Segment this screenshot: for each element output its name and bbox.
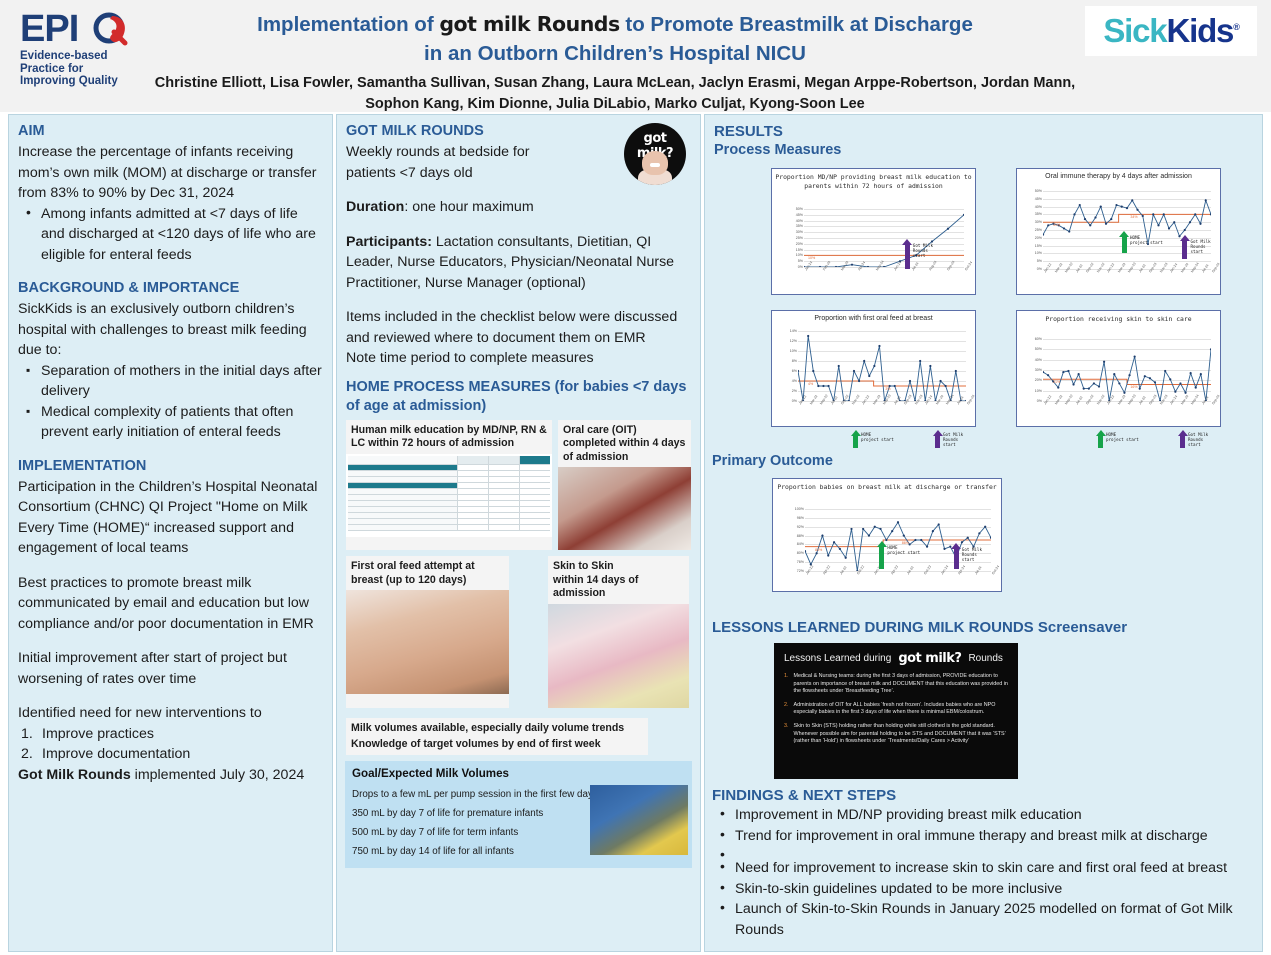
- y-axis-tick-label: 60%: [1035, 337, 1042, 341]
- got-milk-rounds-start-label: Got Milk Rounds start: [962, 547, 982, 563]
- epiq-tagline-2: Practice for: [20, 63, 118, 76]
- poster-title-block: Implementation of got milk Rounds to Pro…: [150, 10, 1080, 115]
- implementation-numbered-list: 1.Improve practices 2.Improve documentat…: [20, 724, 323, 765]
- y-axis-tick-label: 50%: [796, 207, 803, 211]
- list-item: 1.Medical & Nursing teams: during the fi…: [784, 673, 1008, 696]
- duration-label: Duration: [346, 199, 404, 215]
- results-heading: RESULTS: [714, 122, 1253, 141]
- epiq-tagline-3: Improving Quality: [20, 75, 118, 88]
- y-axis-tick-label: 15%: [796, 248, 803, 252]
- y-axis-tick-label: 92%: [797, 525, 804, 529]
- aim-bullets: Among infants admitted at <7 days of lif…: [24, 204, 323, 266]
- y-axis-tick-label: 35%: [796, 224, 803, 228]
- process-measure-row-2: First oral feed attempt at breast (up to…: [346, 556, 691, 714]
- list-number: 3.: [784, 723, 789, 746]
- registered-mark: ®: [1233, 22, 1238, 32]
- y-axis-tick-label: 40%: [1035, 205, 1042, 209]
- centerline-label: 86%: [902, 541, 909, 545]
- implementation-final-line: Got Milk Rounds implemented July 30, 202…: [18, 765, 323, 786]
- list-item-label: Skin to Skin (STS) holding rather than h…: [794, 723, 1009, 746]
- y-axis-tick-label: 40%: [796, 219, 803, 223]
- implementation-paragraph-4: Identified need for new interventions to: [18, 703, 323, 724]
- chart-first-oral-feed: Proportion with first oral feed at breas…: [771, 310, 976, 427]
- title-part-b: to Promote Breastmilk at Discharge: [620, 13, 973, 36]
- x-axis-tick-label: Sep-24: [966, 394, 976, 405]
- middle-column: got milk? GOT MILK ROUNDS Weekly rounds …: [336, 114, 701, 952]
- y-axis-tick-label: 45%: [1035, 197, 1042, 201]
- list-item: Separation of mothers in the initial day…: [24, 361, 323, 402]
- chart-series: [1043, 339, 1211, 401]
- screensaver-title-post: Rounds: [968, 653, 1002, 664]
- background-bullets: Separation of mothers in the initial day…: [24, 361, 323, 443]
- list-item: Medical complexity of patients that ofte…: [24, 402, 323, 443]
- y-axis-tick-label: 0%: [1037, 399, 1042, 403]
- implementation-final-rest: implemented July 30, 2024: [131, 767, 305, 783]
- y-axis-tick-label: 4%: [792, 379, 797, 383]
- y-axis-tick-label: 25%: [796, 236, 803, 240]
- screensaver-title-pre: Lessons Learned during: [784, 653, 891, 664]
- y-axis-tick-label: 96%: [797, 516, 804, 520]
- participants-line: Participants: Lactation consultants, Die…: [346, 232, 691, 294]
- y-axis-tick-label: 0%: [798, 265, 803, 269]
- background-text: SickKids is an exclusively outborn child…: [18, 299, 323, 361]
- got-milk-rounds-bold: Got Milk Rounds: [18, 767, 131, 783]
- chart-plot-area: 0%2%4%6%8%10%12%14%Jan-22Mar-22May-22Jul…: [798, 331, 966, 401]
- list-spacer: [718, 846, 1257, 858]
- author-list-line-1: Christine Elliott, Lisa Fowler, Samantha…: [150, 73, 1080, 94]
- skin-to-skin-photo: [548, 604, 689, 708]
- y-axis-tick-label: 14%: [790, 329, 797, 333]
- card-caption: Skin to Skin within 14 days of admission: [548, 556, 689, 604]
- findings-section: FINDINGS & NEXT STEPS Improvement in MD/…: [712, 786, 1257, 940]
- list-item-label: Administration of OIT for ALL babies ‘fr…: [794, 702, 1009, 717]
- y-axis-tick-label: 50%: [1035, 189, 1042, 193]
- y-axis-tick-label: 72%: [797, 569, 804, 573]
- chart-series: [798, 331, 966, 401]
- y-axis-tick-label: 10%: [1035, 251, 1042, 255]
- y-axis-tick-label: 10%: [790, 349, 797, 353]
- sickkids-wordmark: SickKids®: [1103, 12, 1238, 50]
- y-axis-tick-label: 100%: [795, 507, 804, 511]
- findings-heading: FINDINGS & NEXT STEPS: [712, 786, 1257, 805]
- list-item: Trend for improvement in oral immune the…: [718, 826, 1257, 847]
- duration-line: Duration: one hour maximum: [346, 197, 691, 218]
- centerline-label: 83%: [815, 548, 822, 552]
- y-axis-tick-label: 45%: [796, 213, 803, 217]
- milk-volumes-title: Goal/Expected Milk Volumes: [352, 767, 685, 780]
- y-axis-tick-label: 5%: [1037, 259, 1042, 263]
- got-milk-rounds-start-label: Got Milk Rounds start: [913, 243, 933, 259]
- process-measures-heading: Process Measures: [714, 141, 1253, 160]
- centerline-label: 34%: [1130, 215, 1137, 219]
- x-axis-tick-label: Oct-24: [991, 565, 1000, 576]
- x-axis-tick-label: Sep-24: [1211, 262, 1221, 273]
- chart-title: Proportion babies on breast milk at disc…: [773, 479, 1001, 492]
- card-caption: Oral care (OIT) completed within 4 days …: [558, 420, 691, 468]
- findings-list: Improvement in MD/NP providing breast mi…: [718, 805, 1257, 940]
- y-axis-tick-label: 0%: [792, 399, 797, 403]
- list-item: 3.Skin to Skin (STS) holding rather than…: [784, 723, 1008, 746]
- got-milk-rounds-start-label: Got Milk Rounds start: [943, 432, 963, 448]
- got-milk-rounds-text: Weekly rounds at bedside for patients <7…: [346, 142, 561, 183]
- screensaver-got-milk-logo: got milk?: [898, 651, 961, 666]
- y-axis-tick-label: 88%: [797, 534, 804, 538]
- chart-plot-area: 0%5%10%15%20%25%30%35%40%45%50%Jan-22Mar…: [1043, 191, 1211, 269]
- sickkids-logo: SickKids®: [1085, 6, 1257, 56]
- y-axis-tick-label: 12%: [790, 339, 797, 343]
- list-item-label: Improve documentation: [42, 746, 190, 762]
- chart-skin-to-skin: Proportion receiving skin to skin care 0…: [1016, 310, 1221, 427]
- title-got-milk-rounds: got milk Rounds: [439, 12, 619, 36]
- badge-baby-milk-lip: [650, 163, 660, 167]
- epiq-tagline: Evidence-based Practice for Improving Qu…: [20, 50, 118, 88]
- got-milk-badge-icon: got milk?: [624, 123, 686, 185]
- epiq-logo: EPI Evidence-based Practice for Improvin…: [14, 8, 144, 86]
- sickkids-part-sick: Sick: [1103, 12, 1166, 49]
- page-subtitle: in an Outborn Children’s Hospital NICU: [150, 39, 1080, 68]
- home-start-label: HOME project start: [1106, 432, 1139, 442]
- chart-title: Proportion with first oral feed at breas…: [772, 311, 975, 324]
- centerline-label: 31%: [1053, 223, 1060, 227]
- background-heading: BACKGROUND & IMPORTANCE: [18, 279, 323, 298]
- list-item: 2.Improve documentation: [20, 744, 323, 765]
- chart-series: [804, 209, 964, 267]
- list-item-label: Medical & Nursing teams: during the firs…: [794, 673, 1009, 696]
- y-axis-tick-label: 76%: [797, 560, 804, 564]
- card-skin-to-skin: Skin to Skin within 14 days of admission: [548, 556, 689, 708]
- chart-oral-immune-therapy: Oral immune therapy by 4 days after admi…: [1016, 168, 1221, 295]
- y-axis-tick-label: 10%: [796, 253, 803, 257]
- aim-text: Increase the percentage of infants recei…: [18, 142, 323, 204]
- list-item: Skin-to-skin guidelines updated to be mo…: [718, 879, 1257, 900]
- chart-breast-milk-at-discharge: Proportion babies on breast milk at disc…: [772, 478, 1002, 592]
- y-axis-tick-label: 50%: [1035, 347, 1042, 351]
- goal-expected-milk-volumes: Goal/Expected Milk Volumes Drops to a fe…: [345, 761, 692, 868]
- chart-plot-area: 0%10%20%30%40%50%60%Jan-22Mar-22May-22Ju…: [1043, 339, 1211, 401]
- y-axis-tick-label: 2%: [792, 389, 797, 393]
- breastfeeding-photo: [346, 590, 509, 694]
- card-caption: Human milk education by MD/NP, RN & LC w…: [346, 420, 552, 454]
- lessons-heading-wrap: LESSONS LEARNED DURING MILK ROUNDS Scree…: [712, 618, 1127, 637]
- title-part-a: Implementation of: [257, 13, 439, 36]
- y-axis-tick-label: 20%: [1035, 236, 1042, 240]
- chart-title: Oral immune therapy by 4 days after admi…: [1017, 169, 1220, 182]
- list-number: 2.: [784, 702, 789, 717]
- y-axis-tick-label: 8%: [792, 359, 797, 363]
- table-row: [348, 525, 550, 531]
- epiq-tagline-1: Evidence-based: [20, 50, 118, 63]
- aim-heading: AIM: [18, 122, 323, 141]
- y-axis-tick-label: 30%: [796, 230, 803, 234]
- checklist-note-2: Note time period to complete measures: [346, 348, 691, 369]
- list-item: 1.Improve practices: [20, 724, 323, 745]
- lessons-learned-heading: LESSONS LEARNED DURING MILK ROUNDS Scree…: [712, 618, 1127, 637]
- y-axis-tick-label: 35%: [1035, 212, 1042, 216]
- chart-title: Proportion MD/NP providing breast milk e…: [772, 169, 975, 190]
- left-column: AIM Increase the percentage of infants r…: [8, 114, 333, 952]
- centerline-label: 4%: [808, 382, 813, 386]
- list-item: 2.Administration of OIT for ALL babies ‘…: [784, 702, 1008, 717]
- y-axis-tick-label: 20%: [796, 242, 803, 246]
- home-start-label: HOME project start: [861, 432, 894, 442]
- card-oral-care: Oral care (OIT) completed within 4 days …: [558, 420, 691, 551]
- got-milk-rounds-start-label: Got Milk Rounds start: [1188, 432, 1208, 448]
- list-item: Launch of Skin-to-Skin Rounds in January…: [718, 899, 1257, 940]
- emr-screenshot-thumbnail: [346, 454, 552, 537]
- epiq-q-icon: [92, 10, 130, 48]
- epiq-logo-word: EPI: [20, 8, 78, 51]
- centerline-label: 3%: [885, 387, 890, 391]
- author-list-line-2: Sophon Kang, Kim Dionne, Julia DiLabio, …: [150, 94, 1080, 115]
- home-start-label: HOME project start: [887, 545, 920, 555]
- centerline-label: 21%: [1053, 380, 1060, 384]
- breast-pump-photo: [590, 785, 688, 855]
- y-axis-tick-label: 80%: [797, 551, 804, 555]
- sickkids-part-kids: Kids: [1166, 12, 1233, 49]
- centerline-label: 10%: [808, 256, 815, 260]
- card-caption: First oral feed attempt at breast (up to…: [346, 556, 509, 590]
- chart-plot-area: 72%76%80%84%88%92%96%100%Jan-22Apr-22Jul…: [805, 509, 991, 571]
- primary-outcome-heading-wrap: Primary Outcome: [712, 452, 833, 471]
- process-measure-row-1: Human milk education by MD/NP, RN & LC w…: [346, 420, 691, 557]
- list-item-label: Improve practices: [42, 726, 154, 742]
- page-title: Implementation of got milk Rounds to Pro…: [150, 10, 1080, 39]
- centerline-label: 16%: [1130, 385, 1137, 389]
- y-axis-tick-label: 84%: [797, 542, 804, 546]
- checklist-note-1: Items included in the checklist below we…: [346, 307, 691, 348]
- milk-note-2: Knowledge of target volumes by end of fi…: [346, 738, 648, 755]
- implementation-paragraph-2: Best practices to promote breast milk co…: [18, 573, 323, 635]
- chart-md-np-education: Proportion MD/NP providing breast milk e…: [771, 168, 976, 295]
- home-process-measures-heading: HOME PROCESS MEASURES (for babies <7 day…: [346, 378, 691, 416]
- list-item: Improvement in MD/NP providing breast mi…: [718, 805, 1257, 826]
- table-row: [348, 456, 550, 465]
- y-axis-tick-label: 5%: [798, 259, 803, 263]
- y-axis-tick-label: 40%: [1035, 358, 1042, 362]
- y-axis-tick-label: 10%: [1035, 389, 1042, 393]
- y-axis-tick-label: 6%: [792, 369, 797, 373]
- milk-note-1: Milk volumes available, especially daily…: [346, 718, 648, 739]
- list-number: 1.: [784, 673, 789, 696]
- screensaver-header: Lessons Learned during got milk? Rounds: [784, 651, 1008, 666]
- y-axis-tick-label: 15%: [1035, 244, 1042, 248]
- y-axis-tick-label: 0%: [1037, 267, 1042, 271]
- list-item: Among infants admitted at <7 days of lif…: [24, 204, 323, 266]
- home-start-label: HOME project start: [1130, 235, 1163, 245]
- oral-care-photo: [558, 467, 691, 550]
- y-axis-tick-label: 25%: [1035, 228, 1042, 232]
- milk-volume-notes: Milk volumes available, especially daily…: [346, 718, 648, 755]
- list-item: Need for improvement to increase skin to…: [718, 858, 1257, 879]
- y-axis-tick-label: 30%: [1035, 220, 1042, 224]
- participants-label: Participants:: [346, 234, 432, 250]
- poster-header: EPI Evidence-based Practice for Improvin…: [0, 0, 1271, 112]
- card-human-milk-education: Human milk education by MD/NP, RN & LC w…: [346, 420, 552, 551]
- y-axis-tick-label: 20%: [1035, 378, 1042, 382]
- implementation-paragraph-1: Participation in the Children’s Hospital…: [18, 477, 323, 559]
- y-axis-tick-label: 30%: [1035, 368, 1042, 372]
- duration-value: : one hour maximum: [404, 199, 533, 215]
- chart-title: Proportion receiving skin to skin care: [1017, 311, 1220, 324]
- card-first-oral-feed: First oral feed attempt at breast (up to…: [346, 556, 509, 708]
- primary-outcome-heading: Primary Outcome: [712, 452, 833, 471]
- x-axis-tick-label: Sep-24: [1211, 394, 1221, 405]
- x-axis-tick-label: Oct-24: [964, 261, 973, 272]
- chart-plot-area: 0%5%10%15%20%25%30%35%40%45%50%Jan-24Feb…: [804, 209, 964, 267]
- implementation-heading: IMPLEMENTATION: [18, 457, 323, 476]
- got-milk-rounds-start-label: Got Milk Rounds start: [1190, 239, 1210, 255]
- implementation-paragraph-3: Initial improvement after start of proje…: [18, 648, 323, 689]
- screensaver-image: Lessons Learned during got milk? Rounds …: [774, 643, 1018, 779]
